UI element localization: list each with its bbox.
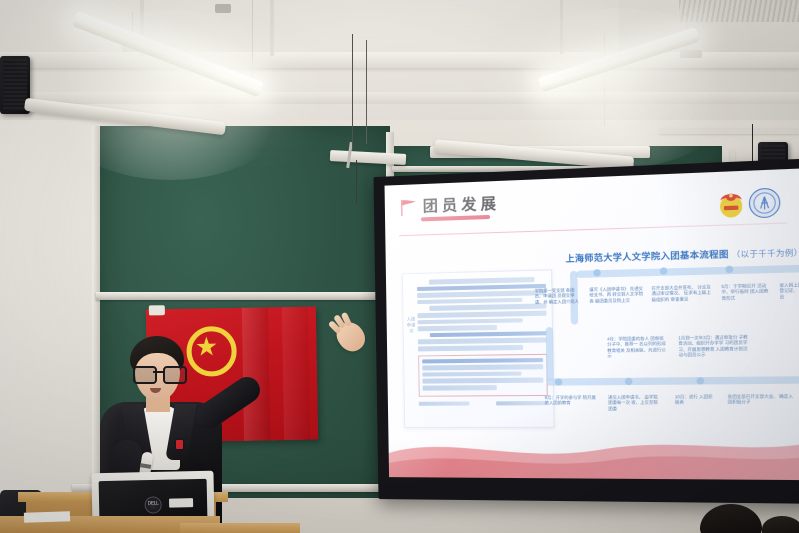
light-bracket-2 [680, 50, 702, 58]
doc-line [418, 338, 547, 345]
ceiling-rib-2 [270, 0, 274, 56]
chart-title: 上海师范大学人文学院入团基本流程图 [565, 249, 728, 264]
hanging-cable-center [356, 160, 357, 204]
slide-footer-wave [388, 422, 799, 480]
flow-step: 递交入团申请书、 由学院团委每一次 收、上交至院团委 [608, 394, 662, 411]
flow-step: 4月：学院团委的各人 团审核分子中、推荐一 名以列的形成教育相关 及相关联、共进… [607, 335, 668, 358]
glasses-lens-right [163, 366, 187, 384]
duct-grille [679, 0, 799, 22]
flow-step: 9月：开学的参与学 院开展的入团前教育 [545, 395, 600, 406]
paper-sheet [24, 511, 70, 523]
flow-step: 学院第一党支部 各团员、申请团 员提交申请、并 确定入团介绍人 [535, 287, 581, 304]
doc-line [422, 371, 521, 377]
flow-pipe-mid [546, 376, 799, 386]
glasses-lens-left [133, 366, 157, 384]
flow-node [555, 378, 562, 385]
flag-fold-2 [282, 307, 310, 440]
light-wire-4 [604, 34, 605, 126]
monitor-label-sticker [169, 498, 193, 508]
flow-step: 各团支部召开支部大会、 确定入团积极分子 [728, 393, 795, 405]
chalk-rail-upper [96, 292, 392, 300]
doc-line [496, 401, 548, 406]
slide-header-divider [399, 222, 787, 236]
flow-node [625, 378, 633, 385]
flow-step: 录入网上团籍、 纸质登记证、 线上证明团员 [779, 281, 799, 299]
doc-line [417, 311, 546, 318]
shanghai-normal-university-seal-icon [749, 188, 781, 219]
chart-title-note: （以于千千为例） [732, 248, 799, 260]
doc-line [422, 378, 543, 384]
document-highlight-box [418, 353, 548, 396]
flow-step: 召开支部大会并宣布、 讨论及通过审议情况、 征求有上级上级组织的 审查意见 [651, 284, 715, 302]
communist-youth-league-emblem-icon [718, 188, 745, 219]
wall-left-panel [0, 120, 96, 533]
slide: 团员发展 [385, 168, 799, 480]
flow-step: 1月到一次年3月：通过审批分 子教育活动、组织开办学学 习的团员学习、开展思想教… [678, 334, 751, 357]
flow-step: 10月：进行 入团积极表 [675, 394, 715, 405]
projection-screen: 团员发展 [373, 158, 799, 504]
audience-head-far-right [762, 516, 799, 533]
ceiling-beam-rear [0, 92, 799, 104]
doc-line [417, 298, 522, 305]
presenter-glasses-icon [133, 366, 183, 380]
presenter-party-badge [176, 440, 183, 449]
dell-logo: DELL [144, 497, 161, 514]
flowchart: 学院第一党支部 各团员、申请团 员提交申请、并 确定入团介绍人 填写《入团申请书… [557, 265, 795, 431]
dell-logo-text: DELL [146, 501, 161, 507]
doc-line [429, 277, 535, 284]
doc-line [430, 331, 547, 338]
application-form-document: 入团申请书 [402, 269, 555, 428]
speaker-left-grille [3, 59, 27, 111]
front-desk-right [180, 523, 300, 533]
chart-title-row: 上海师范大学人文学院入团基本流程图 （以于千千为例） [565, 246, 799, 265]
document-body [417, 277, 548, 422]
slide-header-title: 团员发展 [423, 192, 501, 216]
document-vertical-label: 入团申请书 [406, 316, 415, 334]
doc-line [418, 325, 497, 331]
doc-line [418, 345, 523, 351]
projection-screen-surface: 团员发展 [385, 168, 799, 480]
ceiling-rib-3 [560, 0, 563, 54]
doc-line [429, 304, 546, 311]
cable-conduit-horizontal [660, 128, 799, 134]
doc-line [423, 385, 497, 390]
glasses-bridge [153, 371, 163, 373]
ceiling-cable-bundle-2 [366, 40, 367, 144]
flow-node [696, 377, 704, 384]
flow-step: 填写《入团申请书》 先递交给支书、再 转交到人文学院各 级团委员及院上交 [589, 286, 645, 304]
flow-pipe-left-down [546, 327, 554, 381]
doc-line [422, 357, 543, 363]
doc-line [422, 364, 543, 370]
flag-clip [149, 305, 165, 315]
doc-line [419, 401, 470, 406]
ceiling [0, 0, 799, 126]
doc-line [417, 290, 546, 298]
red-flag-icon [399, 198, 419, 217]
document-signature-row [419, 401, 548, 406]
flow-pipe-top [576, 264, 799, 277]
doc-line [418, 318, 523, 325]
ceiling-mount-plate [215, 4, 231, 13]
ceiling-cable-bundle [352, 34, 353, 150]
classroom-photo: 团员发展 [0, 0, 799, 533]
flow-step: 5月：于学期召开 活动中、举行临时 团入团教育形式 [721, 283, 773, 301]
